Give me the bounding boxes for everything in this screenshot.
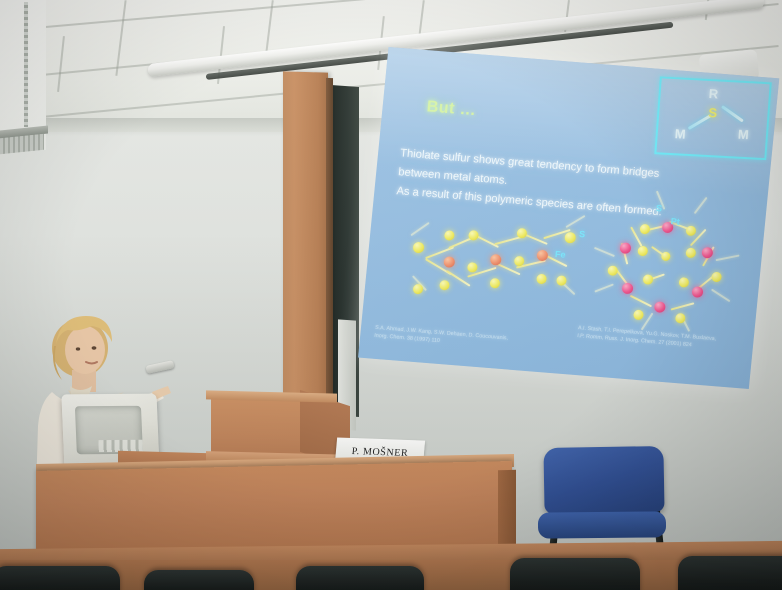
thiolate-bridge-formula-box: R S M M [654,76,771,160]
citation-left: S.A. Ahmad, J.W. Kang, S.W. Dehaen, D. C… [374,325,508,351]
iron-thiolate-chain-molecule: S Fe [397,197,597,320]
formula-label-m-left: M [674,126,686,142]
projection-screen: But … Thiolate sulfur shows great tenden… [317,30,782,423]
formula-label-s: S [708,105,718,120]
formula-label-m-right: M [737,127,749,143]
blind-chain-icon [24,2,28,127]
blue-chair-back [543,446,664,514]
slide-heading: But … [426,98,477,120]
monitor-screen [75,406,143,454]
formula-label-r: R [708,86,718,101]
audience-seat-3 [296,566,424,590]
platinum-thiolate-ring-molecule: S Pt [581,188,755,350]
mol1-label-iron: Fe [555,249,566,260]
blue-chair-seat [538,511,666,538]
audience-seat-5 [678,556,782,590]
presentation-slide: But … Thiolate sulfur shows great tenden… [358,47,779,389]
lecture-hall-photo: But … Thiolate sulfur shows great tenden… [0,0,782,590]
mol1-label-sulfur: S [579,229,586,239]
audience-seat-2 [144,570,254,590]
mol2-label-sulfur: S [656,203,663,213]
audience-seat-1 [0,566,120,590]
mol2-label-platinum: Pt [670,216,680,227]
audience-seat-4 [510,558,640,590]
